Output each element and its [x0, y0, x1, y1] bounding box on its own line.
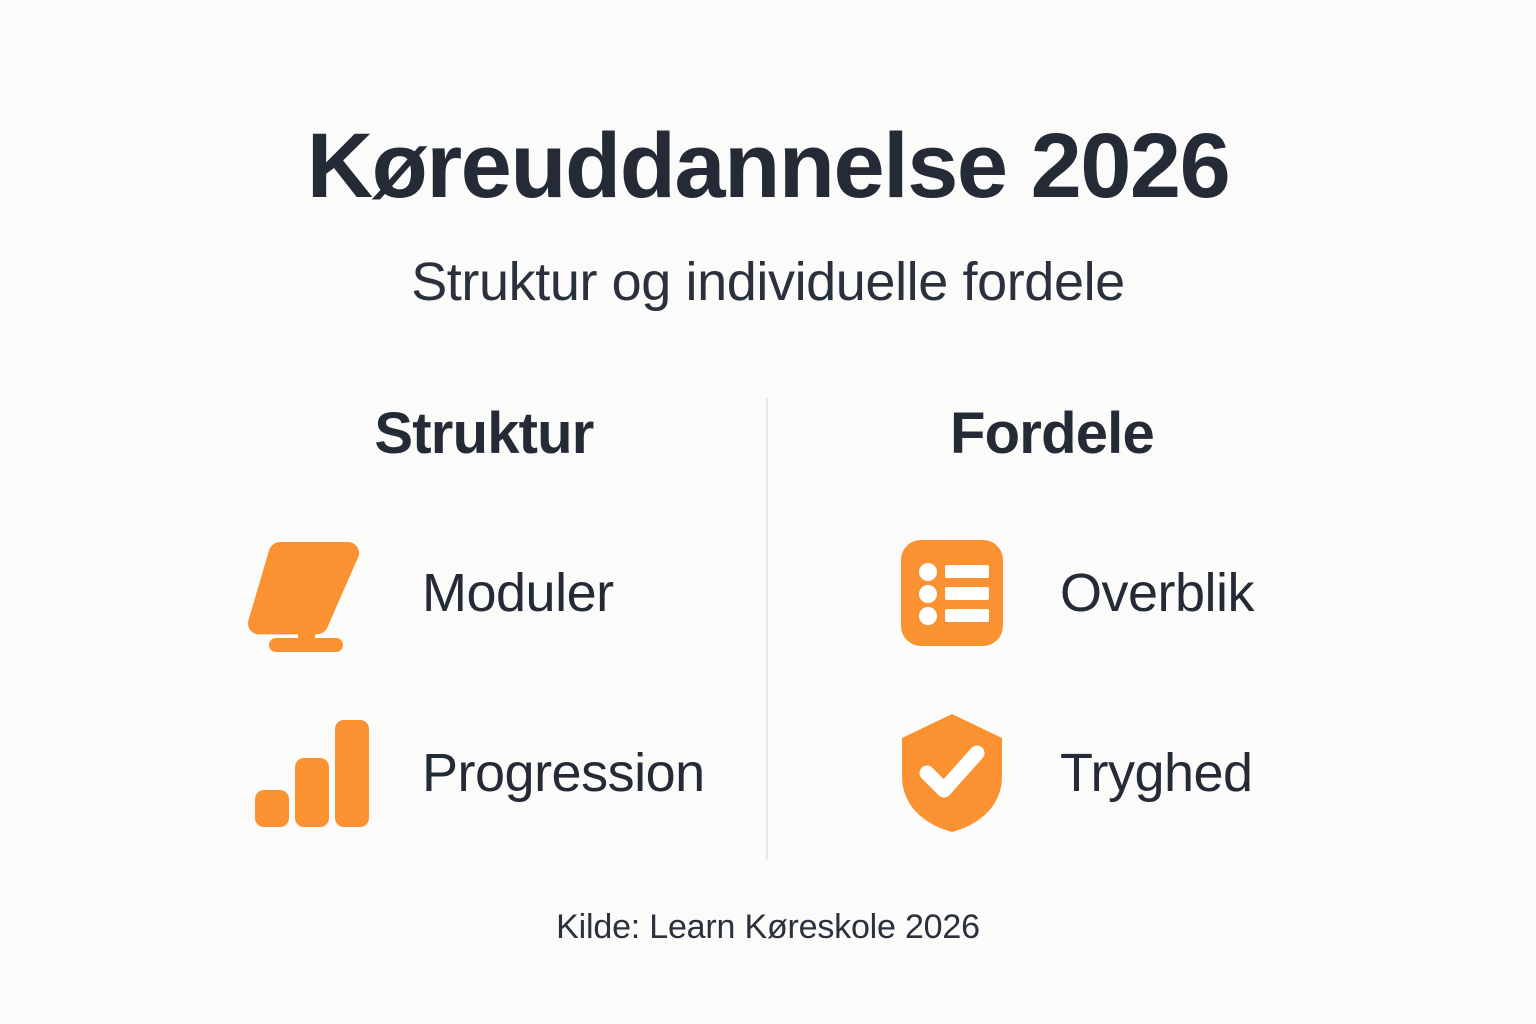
- column-heading-struktur: Struktur: [200, 401, 768, 468]
- list-item-tryghed[interactable]: Tryghed: [886, 714, 1336, 832]
- monitor-icon: [242, 534, 374, 652]
- list-item-label-progression: Progression: [422, 746, 705, 800]
- column-struktur: Struktur Moduler: [200, 395, 768, 865]
- list-icon: [886, 534, 1018, 652]
- source-caption: Kilde: Learn Køreskole 2026: [0, 908, 1536, 947]
- infographic-canvas: Køreuddannelse 2026 Struktur og individu…: [0, 0, 1536, 1024]
- list-item-label-overblik: Overblik: [1060, 566, 1254, 620]
- column-items-fordele: Overblik Tryghed: [886, 534, 1336, 832]
- page-subtitle: Struktur og individuelle fordele: [0, 253, 1536, 312]
- column-fordele: Fordele Overblik: [768, 395, 1336, 865]
- shield-check-icon: [886, 714, 1018, 832]
- page-title: Køreuddannelse 2026: [0, 118, 1536, 215]
- list-item-moduler[interactable]: Moduler: [242, 534, 768, 652]
- list-item-progression[interactable]: Progression: [242, 714, 768, 832]
- list-item-overblik[interactable]: Overblik: [886, 534, 1336, 652]
- list-item-label-tryghed: Tryghed: [1060, 746, 1253, 800]
- list-item-label-moduler: Moduler: [422, 566, 614, 620]
- column-items-struktur: Moduler Progression: [242, 534, 768, 832]
- bar-chart-icon: [242, 714, 374, 832]
- comparison-columns: Struktur Moduler: [200, 395, 1336, 865]
- column-heading-fordele: Fordele: [768, 401, 1336, 468]
